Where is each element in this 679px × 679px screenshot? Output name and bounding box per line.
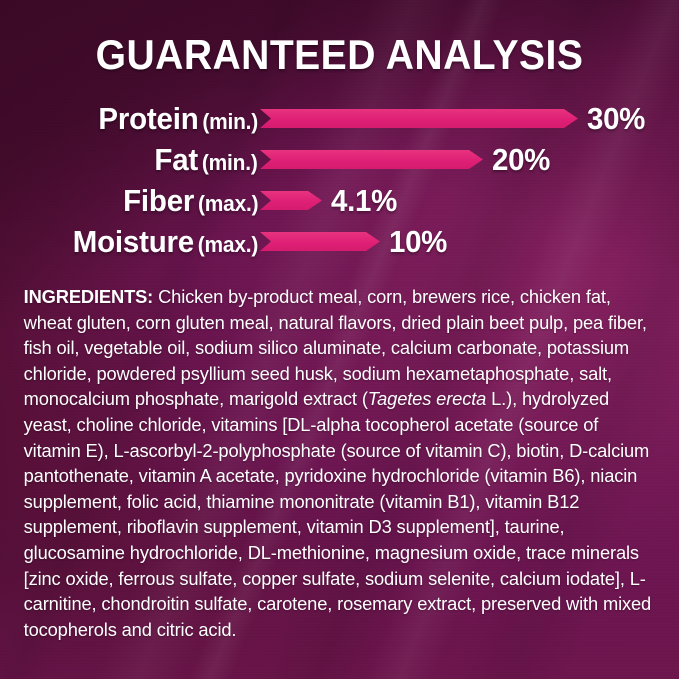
bar-fill [260, 109, 578, 128]
nutrient-qualifier: (min.) [202, 150, 258, 175]
analysis-row-fiber: Fiber(max.) 4.1% [22, 180, 661, 221]
analysis-row-moisture: Moisture(max.) 10% [22, 221, 661, 262]
analysis-label-protein: Protein(min.) [22, 103, 258, 134]
bar-fill [260, 150, 483, 169]
ingredients-text-part-2: L.), hydrolyzed yeast, choline chloride,… [24, 388, 651, 639]
analysis-bar-fat [260, 150, 483, 169]
ingredients-heading: INGREDIENTS: [24, 286, 153, 307]
nutrient-qualifier: (max.) [198, 191, 258, 216]
nutrient-name: Fiber [123, 183, 194, 218]
nutrient-name: Fat [155, 142, 199, 177]
analysis-label-fat: Fat(min.) [22, 144, 258, 175]
ingredients-paragraph: INGREDIENTS: Chicken by-product meal, co… [0, 284, 669, 642]
analysis-value-protein: 30% [587, 103, 645, 134]
guaranteed-analysis-panel: GUARANTEED ANALYSIS Protein(min.) 30% Fa… [0, 0, 679, 679]
analysis-value-moisture: 10% [389, 226, 447, 257]
analysis-row-fat: Fat(min.) 20% [22, 139, 661, 180]
analysis-bar-chart: Protein(min.) 30% Fat(min.) 20% [0, 98, 679, 262]
bar-fill [260, 232, 380, 251]
analysis-row-protein: Protein(min.) 30% [22, 98, 661, 139]
analysis-value-fiber: 4.1% [331, 185, 397, 216]
analysis-bar-protein [260, 109, 578, 128]
ingredients-latin-name: Tagetes erecta [368, 388, 486, 409]
analysis-label-moisture: Moisture(max.) [22, 226, 258, 257]
nutrient-name: Protein [98, 101, 198, 136]
page-title: GUARANTEED ANALYSIS [24, 0, 655, 76]
nutrient-qualifier: (max.) [198, 232, 258, 257]
analysis-bar-fiber [260, 191, 322, 210]
bar-fill [260, 191, 322, 210]
analysis-bar-moisture [260, 232, 380, 251]
nutrient-qualifier: (min.) [202, 109, 258, 134]
analysis-label-fiber: Fiber(max.) [22, 185, 258, 216]
nutrient-name: Moisture [73, 224, 194, 259]
analysis-value-fat: 20% [492, 144, 550, 175]
